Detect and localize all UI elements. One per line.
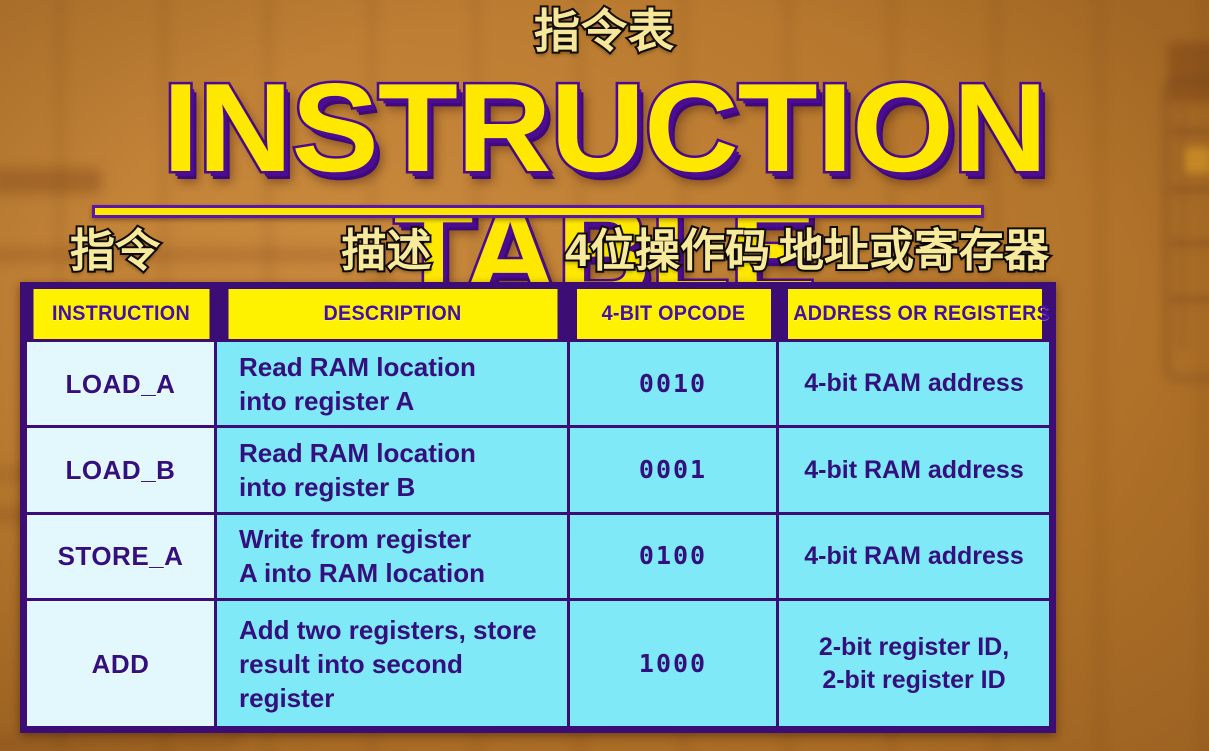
cell-instruction: ADD [26, 600, 216, 728]
cell-operand: 4-bit RAM address [778, 513, 1051, 599]
cell-opcode: 1000 [569, 600, 778, 728]
cell-operand: 4-bit RAM address [778, 341, 1051, 427]
column-subtitle-address: 地址或寄存器 [772, 219, 1056, 279]
description-line: Read RAM location [239, 436, 561, 470]
cell-operand: 2-bit register ID, 2-bit register ID [778, 600, 1051, 728]
column-subtitles-chinese: 指令 描述 4位操作码 地址或寄存器 [20, 219, 1056, 279]
column-header-instruction: INSTRUCTION [31, 288, 210, 341]
table-header-row: INSTRUCTION DESCRIPTION 4-BIT OPCODE ADD… [26, 288, 1051, 341]
description-line: Add two registers, store [239, 613, 561, 647]
table-row: LOAD_A Read RAM location into register A… [26, 341, 1051, 427]
description-line: A into RAM location [239, 556, 561, 590]
column-subtitle-description: 描述 [210, 219, 563, 279]
cell-description: Write from register A into RAM location [216, 513, 569, 599]
description-line: Read RAM location [239, 350, 561, 384]
cell-opcode: 0010 [569, 341, 778, 427]
cell-description: Read RAM location into register A [216, 341, 569, 427]
operand-line: 4-bit RAM address [785, 540, 1043, 573]
cell-opcode: 0100 [569, 513, 778, 599]
column-header-address: ADDRESS OR REGISTERS [786, 288, 1043, 341]
page-title-chinese: 指令表 [0, 2, 1209, 60]
cell-description: Read RAM location into register B [216, 427, 569, 513]
operand-line: 4-bit RAM address [785, 367, 1043, 400]
cell-operand: 4-bit RAM address [778, 427, 1051, 513]
cell-opcode: 0001 [569, 427, 778, 513]
operand-line: 2-bit register ID [785, 664, 1043, 697]
column-header-description: DESCRIPTION [226, 288, 558, 341]
cell-description: Add two registers, store result into sec… [216, 600, 569, 728]
table-row: ADD Add two registers, store result into… [26, 600, 1051, 728]
cell-instruction: LOAD_B [26, 427, 216, 513]
title-underline-bar [92, 205, 984, 218]
column-header-opcode: 4-BIT OPCODE [575, 288, 771, 341]
column-subtitle-instruction: 指令 [20, 219, 210, 279]
cell-instruction: LOAD_A [26, 341, 216, 427]
cell-instruction: STORE_A [26, 513, 216, 599]
description-line: into register B [239, 470, 561, 504]
operand-line: 4-bit RAM address [785, 454, 1043, 487]
description-line: result into second register [239, 647, 561, 715]
table-body: LOAD_A Read RAM location into register A… [26, 341, 1051, 728]
instruction-table: INSTRUCTION DESCRIPTION 4-BIT OPCODE ADD… [20, 282, 1056, 733]
table-row: LOAD_B Read RAM location into register B… [26, 427, 1051, 513]
table-row: STORE_A Write from register A into RAM l… [26, 513, 1051, 599]
description-line: into register A [239, 384, 561, 418]
column-subtitle-opcode: 4位操作码 [563, 219, 772, 279]
operand-line: 2-bit register ID, [785, 631, 1043, 664]
table-header: INSTRUCTION DESCRIPTION 4-BIT OPCODE ADD… [26, 288, 1051, 341]
description-line: Write from register [239, 522, 561, 556]
instruction-table-grid: INSTRUCTION DESCRIPTION 4-BIT OPCODE ADD… [24, 286, 1052, 729]
